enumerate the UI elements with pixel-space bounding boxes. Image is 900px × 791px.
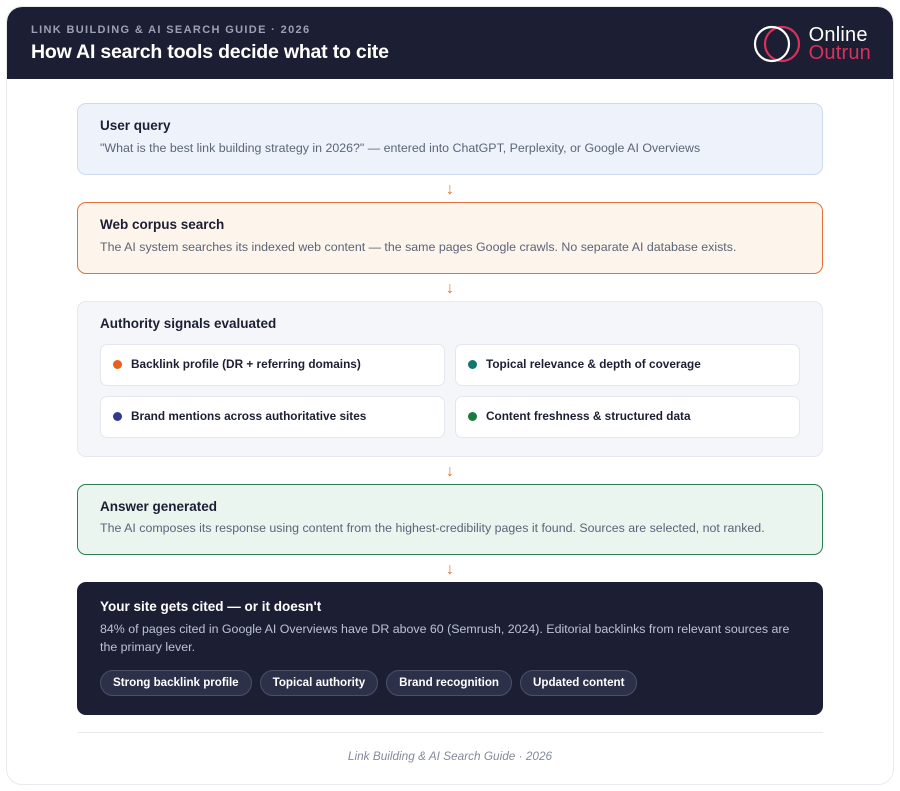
flow-step-description: The AI system searches its indexed web c…: [100, 239, 800, 257]
signal-card-content-freshness[interactable]: Content freshness & structured data: [455, 396, 800, 438]
footer-caption: Link Building & AI Search Guide · 2026: [77, 732, 823, 763]
flow-step-title: Your site gets cited — or it doesn't: [100, 599, 800, 616]
pill-brand-recognition[interactable]: Brand recognition: [386, 670, 512, 696]
pill-strong-backlink-profile[interactable]: Strong backlink profile: [100, 670, 252, 696]
overlapping-circles-logo-icon: [750, 20, 802, 68]
signal-dot-icon: [468, 360, 477, 369]
flow-step-authority-signals: Authority signals evaluated Backlink pro…: [77, 301, 823, 457]
signal-label: Content freshness & structured data: [486, 409, 691, 424]
outcome-pill-row: Strong backlink profile Topical authorit…: [100, 670, 800, 696]
page-title: How AI search tools decide what to cite: [31, 41, 389, 63]
signal-card-brand-mentions[interactable]: Brand mentions across authoritative site…: [100, 396, 445, 438]
infographic-card: LINK BUILDING & AI SEARCH GUIDE · 2026 H…: [6, 6, 894, 785]
flow-body: User query "What is the best link buildi…: [7, 79, 893, 715]
header-eyebrow: LINK BUILDING & AI SEARCH GUIDE · 2026: [31, 25, 389, 36]
signal-dot-icon: [113, 360, 122, 369]
flow-step-description: The AI composes its response using conte…: [100, 520, 800, 538]
flow-step-description: "What is the best link building strategy…: [100, 140, 800, 158]
flow-step-title: Answer generated: [100, 499, 800, 516]
flow-step-answer-generated: Answer generated The AI composes its res…: [77, 484, 823, 556]
signal-label: Backlink profile (DR + referring domains…: [131, 357, 361, 372]
signal-label: Topical relevance & depth of coverage: [486, 357, 701, 372]
signal-dot-icon: [468, 412, 477, 421]
flow-step-description: 84% of pages cited in Google AI Overview…: [100, 621, 800, 657]
flow-step-site-cited: Your site gets cited — or it doesn't 84%…: [77, 582, 823, 715]
brand-logo[interactable]: Online Outrun: [750, 20, 871, 68]
header-text-group: LINK BUILDING & AI SEARCH GUIDE · 2026 H…: [31, 25, 389, 63]
flow-arrow-3-icon: ↓: [77, 457, 823, 484]
flow-arrow-2-icon: ↓: [77, 274, 823, 301]
brand-logo-text: Online Outrun: [809, 26, 871, 63]
header-bar: LINK BUILDING & AI SEARCH GUIDE · 2026 H…: [7, 7, 893, 79]
pill-updated-content[interactable]: Updated content: [520, 670, 637, 696]
flow-diagram: User query "What is the best link buildi…: [77, 103, 823, 715]
signal-card-topical-relevance[interactable]: Topical relevance & depth of coverage: [455, 344, 800, 386]
flow-step-title: Authority signals evaluated: [100, 316, 800, 333]
brand-logo-line2: Outrun: [809, 44, 871, 62]
flow-step-user-query: User query "What is the best link buildi…: [77, 103, 823, 175]
flow-step-web-corpus-search: Web corpus search The AI system searches…: [77, 202, 823, 274]
flow-step-title: Web corpus search: [100, 217, 800, 234]
signal-label: Brand mentions across authoritative site…: [131, 409, 366, 424]
signal-card-backlink-profile[interactable]: Backlink profile (DR + referring domains…: [100, 344, 445, 386]
flow-arrow-1-icon: ↓: [77, 175, 823, 202]
signal-dot-icon: [113, 412, 122, 421]
page-root: LINK BUILDING & AI SEARCH GUIDE · 2026 H…: [0, 0, 900, 791]
authority-signal-grid: Backlink profile (DR + referring domains…: [100, 344, 800, 438]
pill-topical-authority[interactable]: Topical authority: [260, 670, 379, 696]
flow-arrow-4-icon: ↓: [77, 555, 823, 582]
flow-step-title: User query: [100, 118, 800, 135]
